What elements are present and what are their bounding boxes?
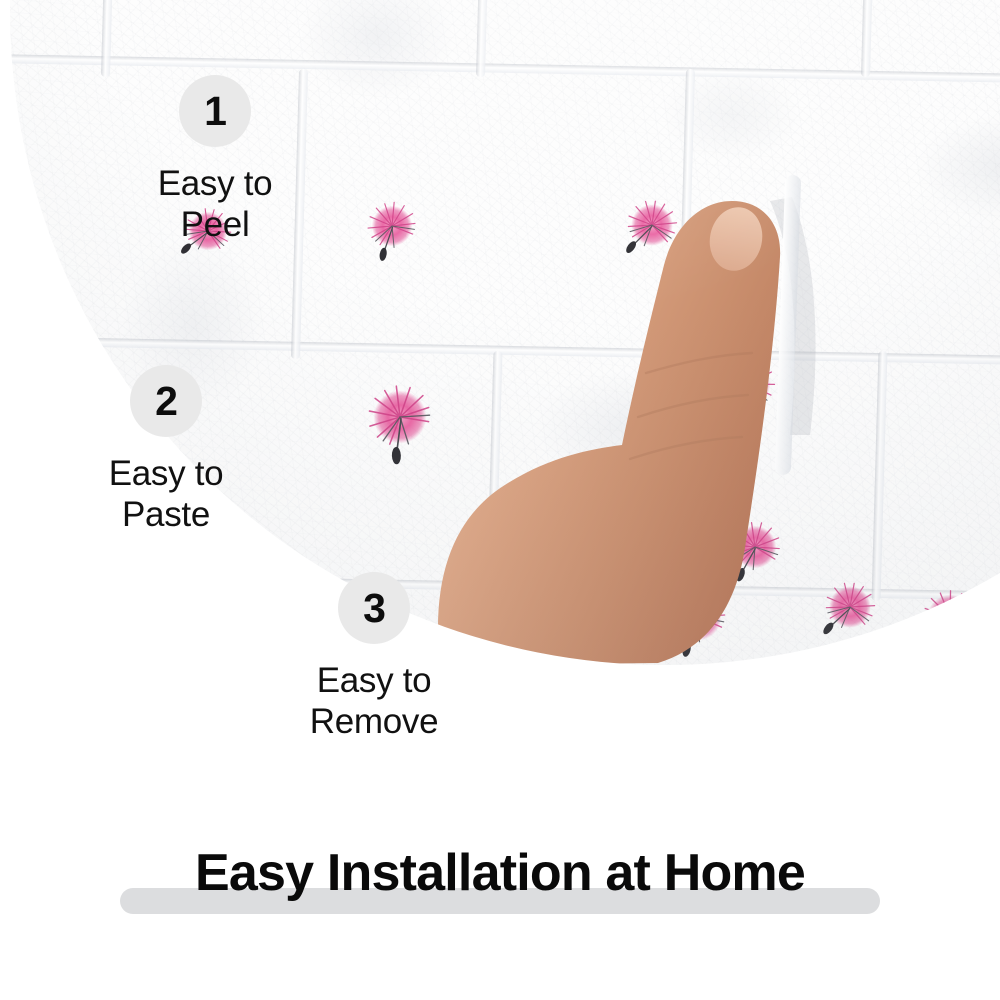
step-2-number-badge: 2 — [130, 365, 202, 437]
step-1-label: Easy to Peel — [97, 163, 333, 246]
step-3-number: 3 — [363, 588, 385, 629]
headline-block: Easy Installation at Home — [0, 846, 1000, 936]
step-2: 2 Easy to Paste — [48, 365, 284, 536]
infographic-page: 1 Easy to Peel 2 Easy to Paste 3 Easy to… — [0, 0, 1000, 1000]
step-1-number-badge: 1 — [179, 75, 251, 147]
step-1: 1 Easy to Peel — [97, 75, 333, 246]
step-3-label: Easy to Remove — [252, 660, 496, 743]
step-2-label: Easy to Paste — [48, 453, 284, 536]
step-2-number: 2 — [155, 381, 177, 422]
step-3: 3 Easy to Remove — [252, 572, 496, 743]
step-3-number-badge: 3 — [338, 572, 410, 644]
step-1-number: 1 — [204, 91, 226, 132]
headline-title: Easy Installation at Home — [0, 846, 1000, 901]
